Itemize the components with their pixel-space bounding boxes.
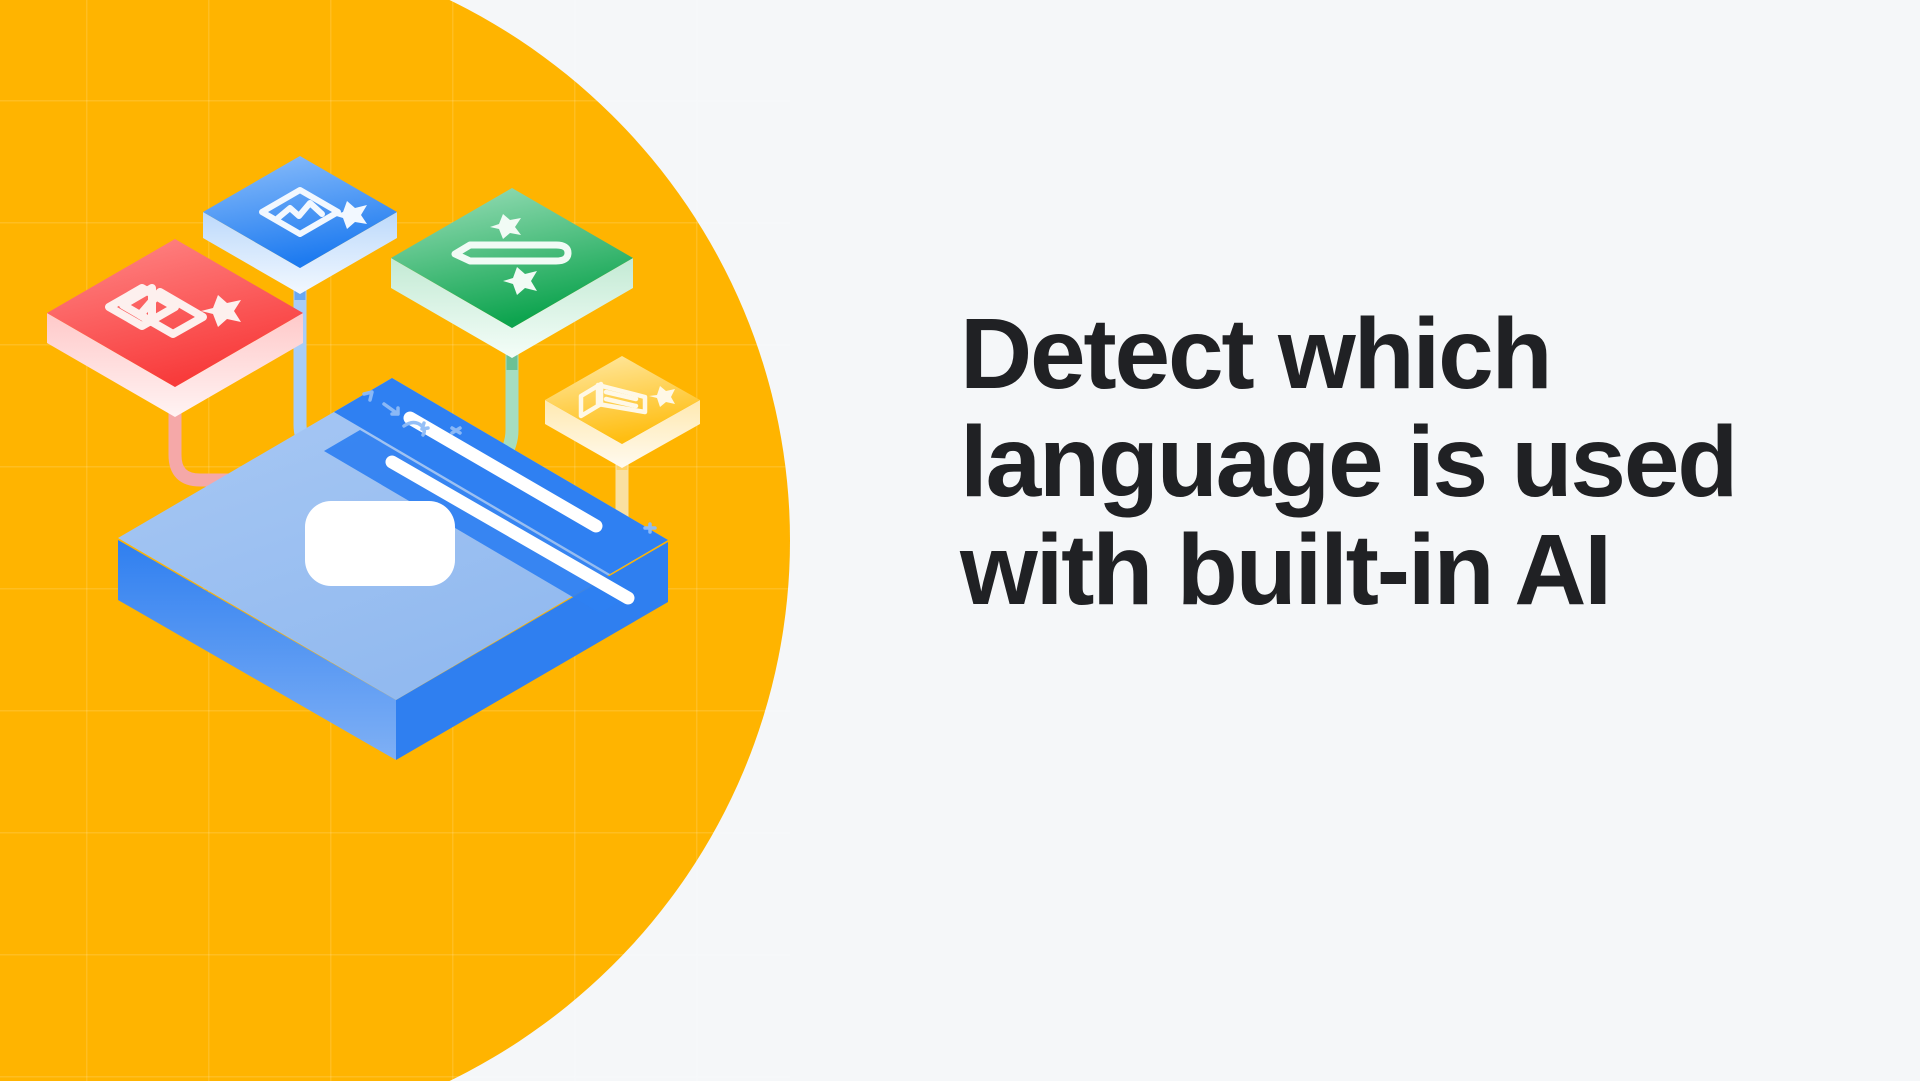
hero-slide: Detect which language is used with built…	[0, 0, 1920, 1081]
rewrite-card	[391, 188, 633, 358]
headline-block: Detect which language is used with built…	[960, 300, 1790, 624]
ai-chip	[305, 501, 455, 586]
close-icon	[452, 428, 460, 433]
page-title: Detect which language is used with built…	[960, 300, 1790, 624]
summarize-card	[545, 356, 700, 468]
illustration	[0, 0, 790, 1081]
